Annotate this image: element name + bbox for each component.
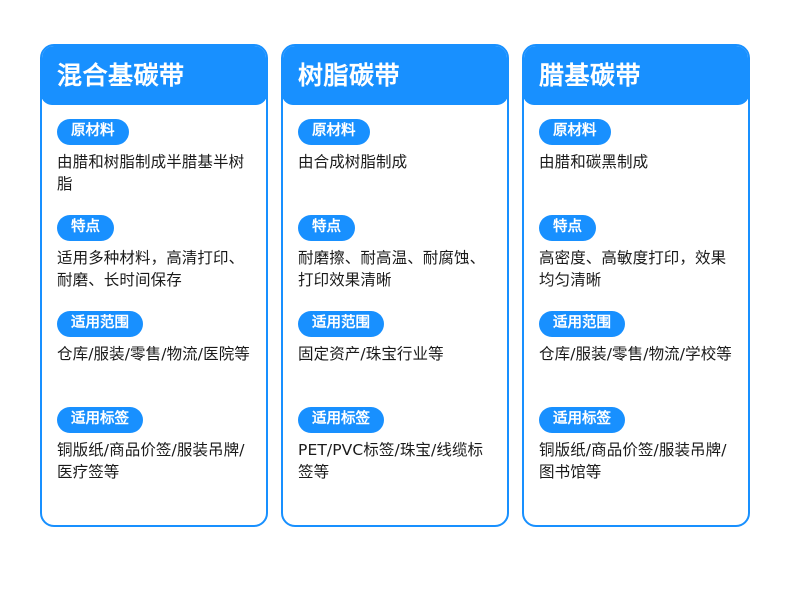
section-features: 特点 高密度、高敏度打印，效果均匀清晰 [539,215,736,311]
section-badge-features: 特点 [298,215,355,241]
section-badge-raw-material: 原材料 [57,119,129,145]
section-text-raw-material: 由合成树脂制成 [298,151,495,173]
card-body: 原材料 由腊和碳黑制成 特点 高密度、高敏度打印，效果均匀清晰 适用范围 仓库/… [524,105,748,525]
card-header: 腊基碳带 [523,45,749,105]
section-text-scope: 仓库/服装/零售/物流/医院等 [57,343,254,365]
card-header: 树脂碳带 [282,45,508,105]
section-features: 特点 耐磨擦、耐高温、耐腐蚀、打印效果清晰 [298,215,495,311]
section-applicable-labels: 适用标签 PET/PVC标签/珠宝/线缆标签等 [298,407,495,483]
section-raw-material: 原材料 由腊和碳黑制成 [539,119,736,215]
card-title: 腊基碳带 [539,63,641,88]
card-title: 树脂碳带 [298,63,400,88]
card-body: 原材料 由腊和树脂制成半腊基半树脂 特点 适用多种材料，高清打印、耐磨、长时间保… [42,105,266,525]
section-raw-material: 原材料 由合成树脂制成 [298,119,495,215]
section-applicable-labels: 适用标签 铜版纸/商品价签/服装吊牌/医疗签等 [57,407,254,483]
section-scope: 适用范围 仓库/服装/零售/物流/学校等 [539,311,736,407]
ribbon-card-mixed: 混合基碳带 原材料 由腊和树脂制成半腊基半树脂 特点 适用多种材料，高清打印、耐… [40,44,268,527]
section-text-raw-material: 由腊和树脂制成半腊基半树脂 [57,151,254,195]
section-text-features: 耐磨擦、耐高温、耐腐蚀、打印效果清晰 [298,247,495,291]
section-scope: 适用范围 仓库/服装/零售/物流/医院等 [57,311,254,407]
section-applicable-labels: 适用标签 铜版纸/商品价签/服装吊牌/图书馆等 [539,407,736,483]
card-title: 混合基碳带 [57,63,185,88]
card-header: 混合基碳带 [41,45,267,105]
section-badge-raw-material: 原材料 [298,119,370,145]
ribbon-card-wax: 腊基碳带 原材料 由腊和碳黑制成 特点 高密度、高敏度打印，效果均匀清晰 适用范… [522,44,750,527]
section-text-scope: 固定资产/珠宝行业等 [298,343,495,365]
section-text-features: 适用多种材料，高清打印、耐磨、长时间保存 [57,247,254,291]
section-badge-scope: 适用范围 [57,311,143,337]
section-badge-applicable-labels: 适用标签 [298,407,384,433]
section-badge-features: 特点 [539,215,596,241]
ribbon-card-resin: 树脂碳带 原材料 由合成树脂制成 特点 耐磨擦、耐高温、耐腐蚀、打印效果清晰 适… [281,44,509,527]
section-badge-features: 特点 [57,215,114,241]
section-features: 特点 适用多种材料，高清打印、耐磨、长时间保存 [57,215,254,311]
section-badge-scope: 适用范围 [539,311,625,337]
ribbon-comparison-board: 混合基碳带 原材料 由腊和树脂制成半腊基半树脂 特点 适用多种材料，高清打印、耐… [0,0,790,589]
section-badge-applicable-labels: 适用标签 [539,407,625,433]
section-badge-scope: 适用范围 [298,311,384,337]
section-text-applicable-labels: 铜版纸/商品价签/服装吊牌/图书馆等 [539,439,736,483]
section-text-features: 高密度、高敏度打印，效果均匀清晰 [539,247,736,291]
section-raw-material: 原材料 由腊和树脂制成半腊基半树脂 [57,119,254,215]
card-body: 原材料 由合成树脂制成 特点 耐磨擦、耐高温、耐腐蚀、打印效果清晰 适用范围 固… [283,105,507,525]
section-badge-applicable-labels: 适用标签 [57,407,143,433]
section-badge-raw-material: 原材料 [539,119,611,145]
section-text-scope: 仓库/服装/零售/物流/学校等 [539,343,736,365]
section-text-applicable-labels: PET/PVC标签/珠宝/线缆标签等 [298,439,495,483]
section-scope: 适用范围 固定资产/珠宝行业等 [298,311,495,407]
section-text-raw-material: 由腊和碳黑制成 [539,151,736,173]
section-text-applicable-labels: 铜版纸/商品价签/服装吊牌/医疗签等 [57,439,254,483]
